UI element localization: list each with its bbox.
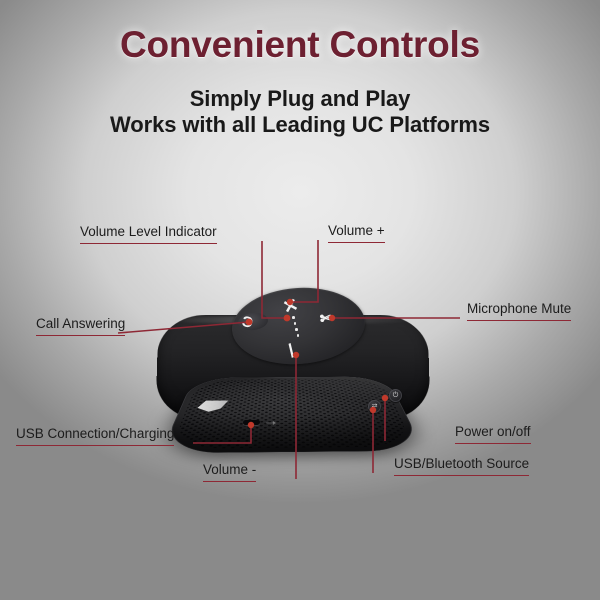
usb-bluetooth-source-button[interactable]: ⇄ [368, 400, 381, 413]
callout-call-answering: Call Answering [36, 316, 125, 336]
subtitle-line-1: Simply Plug and Play [0, 86, 600, 112]
source-button-icon: ⇄ [368, 400, 381, 413]
power-button[interactable]: ⏻ [389, 389, 402, 402]
usb-symbol-icon [266, 421, 276, 425]
callout-power-on-off: Power on/off [455, 424, 531, 444]
volume-indicator-dot [292, 316, 295, 319]
callout-usb-connection-charging: USB Connection/Charging [16, 426, 174, 446]
device-top-plate [160, 376, 424, 453]
infographic-canvas: Convenient Controls Simply Plug and Play… [0, 0, 600, 600]
volume-indicator-dot [295, 328, 298, 331]
power-button-icon: ⏻ [389, 389, 402, 402]
callout-usb-bluetooth-source: USB/Bluetooth Source [394, 456, 529, 476]
volume-indicator-dot [297, 334, 300, 337]
microphone-mute-icon[interactable]: ✄ [319, 310, 332, 325]
volume-indicator-dot [294, 322, 297, 325]
page-title: Convenient Controls [0, 24, 600, 66]
callout-microphone-mute: Microphone Mute [467, 301, 571, 321]
callout-volume-level-indicator: Volume Level Indicator [80, 224, 217, 244]
callout-volume-minus: Volume - [203, 462, 256, 482]
usb-c-port[interactable] [243, 420, 261, 425]
callout-volume-plus: Volume + [328, 223, 385, 243]
subtitle-line-2: Works with all Leading UC Platforms [0, 112, 600, 138]
mesh-shading [160, 376, 424, 453]
